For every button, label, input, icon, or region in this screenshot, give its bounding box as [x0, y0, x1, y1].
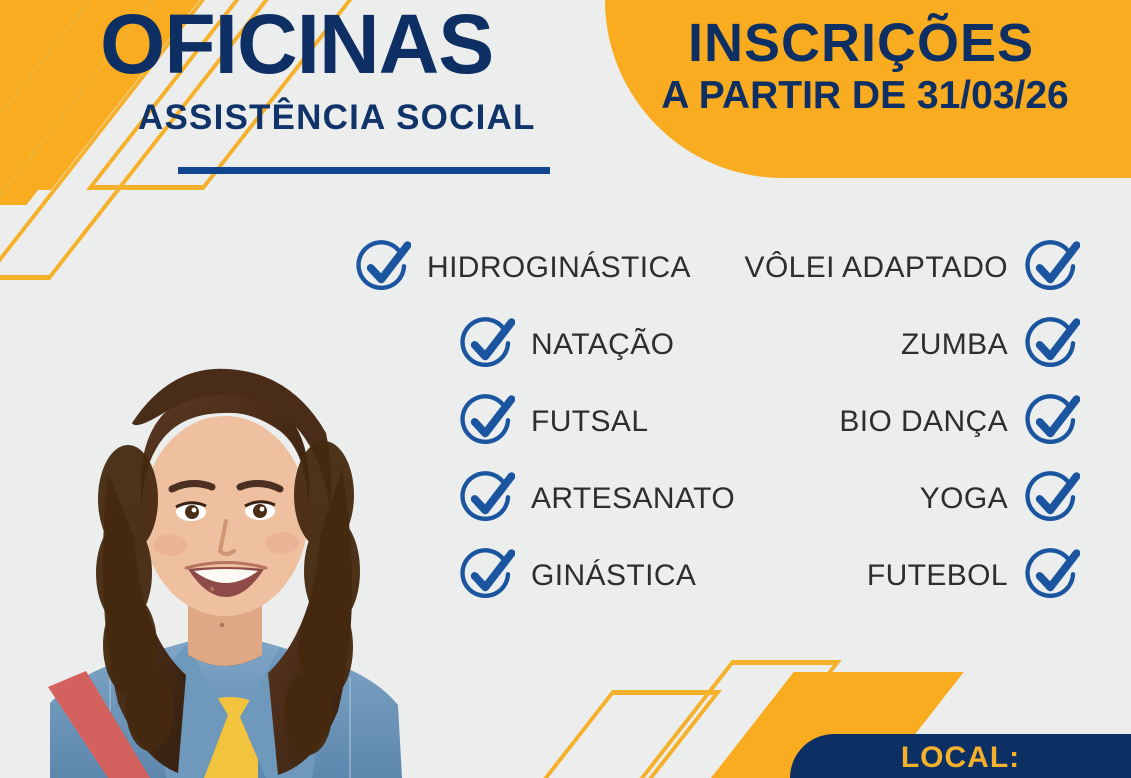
registration-banner-line1: INSCRIÇÕES — [605, 16, 1117, 70]
list-item-label: VÔLEI ADAPTADO — [745, 251, 1008, 285]
list-item[interactable]: ARTESANATO — [459, 469, 730, 529]
poster-root: OFICINAS ASSISTÊNCIA SOCIAL INSCRIÇÕES A… — [0, 0, 1131, 778]
check-circle-icon — [1024, 317, 1080, 373]
check-circle-icon — [1024, 240, 1080, 296]
list-item[interactable]: ZUMBA — [740, 315, 1080, 375]
check-circle-icon — [1024, 394, 1080, 450]
activity-list-right: VÔLEI ADAPTADO ZUMBA BIO DANÇA — [740, 238, 1080, 623]
registration-banner: INSCRIÇÕES A PARTIR DE 31/03/26 — [605, 0, 1131, 178]
title-underline-rule — [178, 167, 550, 174]
list-item[interactable]: GINÁSTICA — [459, 546, 730, 606]
registration-banner-line2: A PARTIR DE 31/03/26 — [605, 76, 1125, 117]
check-circle-icon — [1024, 471, 1080, 527]
list-item[interactable]: YOGA — [740, 469, 1080, 529]
page-subtitle: ASSISTÊNCIA SOCIAL — [138, 100, 536, 135]
check-circle-icon — [459, 548, 515, 604]
list-item-label: HIDROGINÁSTICA — [427, 251, 691, 285]
list-item[interactable]: FUTSAL — [459, 392, 730, 452]
list-item-label: ARTESANATO — [531, 482, 735, 516]
list-item[interactable]: NATAÇÃO — [459, 315, 730, 375]
yellow-outline-stripe-bottom-1 — [448, 690, 722, 778]
list-item[interactable]: BIO DANÇA — [740, 392, 1080, 452]
list-item[interactable]: HIDROGINÁSTICA — [355, 238, 730, 298]
activity-list-left: HIDROGINÁSTICA NATAÇÃO FUTSAL — [355, 238, 730, 623]
check-circle-icon — [355, 240, 411, 296]
check-circle-icon — [459, 471, 515, 527]
list-item[interactable]: FUTEBOL — [740, 546, 1080, 606]
list-item-label: YOGA — [920, 482, 1008, 516]
check-circle-icon — [459, 394, 515, 450]
list-item-label: NATAÇÃO — [531, 328, 674, 362]
check-circle-icon — [459, 317, 515, 373]
location-banner: LOCAL: — [790, 734, 1131, 778]
page-title: OFICINAS — [100, 2, 493, 86]
list-item-label: FUTEBOL — [867, 559, 1008, 593]
list-item-label: BIO DANÇA — [839, 405, 1008, 439]
list-item-label: ZUMBA — [901, 328, 1008, 362]
list-item-label: FUTSAL — [531, 405, 648, 439]
check-circle-icon — [1024, 548, 1080, 604]
list-item[interactable]: VÔLEI ADAPTADO — [740, 238, 1080, 298]
list-item-label: GINÁSTICA — [531, 559, 696, 593]
location-label: LOCAL: — [790, 743, 1131, 773]
